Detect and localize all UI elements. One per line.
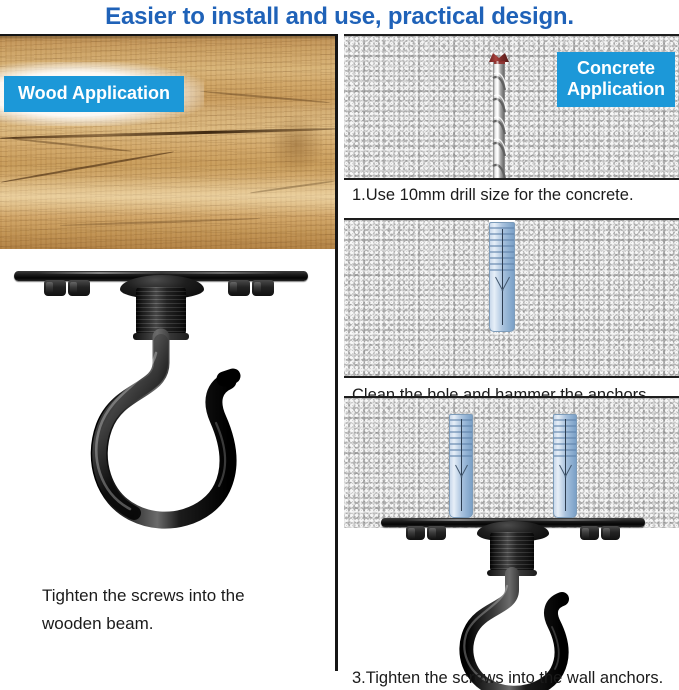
anchor-body (449, 414, 473, 518)
wood-highlight-band (0, 176, 335, 216)
wall-anchor (551, 414, 581, 518)
step-3-caption: 3.Tighten the screws into the wall ancho… (352, 667, 663, 690)
anchor-body (489, 222, 515, 332)
wood-application-badge: Wood Application (4, 76, 184, 112)
wood-caption-line-2: wooden beam. (42, 610, 154, 638)
step-2-illustration (344, 218, 679, 378)
concrete-texture-fine (344, 398, 679, 528)
wood-application-panel: Wood Application (0, 34, 338, 671)
masonry-drill-bit-icon (482, 44, 516, 180)
black-hook (0, 241, 335, 541)
anchor-body (553, 414, 577, 518)
concrete-application-panel: 1.Use 10mm drill size for the concrete. … (344, 34, 679, 671)
wood-caption-line-1: Tighten the screws into the (42, 582, 245, 610)
wooden-beam-image: Wood Application (0, 36, 335, 249)
wood-knot (267, 114, 325, 174)
page-title: Easier to install and use, practical des… (0, 0, 679, 33)
wall-anchor (485, 218, 519, 334)
step-1-caption: 1.Use 10mm drill size for the concrete. (352, 184, 634, 207)
concrete-badge-line-2: Application (567, 79, 665, 99)
wood-application-badge-glow: Wood Application (0, 62, 204, 126)
anchor-expansion-slit (461, 419, 462, 511)
product-instruction-image: Easier to install and use, practical des… (0, 0, 679, 671)
step-3-illustration (344, 396, 679, 528)
wall-anchor (447, 414, 477, 518)
anchor-expansion-slit (565, 419, 566, 511)
concrete-application-badge-wrap: Concrete Application (557, 52, 675, 107)
wood-crack (200, 90, 330, 103)
concrete-hook-assembly (344, 512, 679, 672)
concrete-application-badge: Concrete Application (557, 52, 675, 107)
concrete-badge-line-1: Concrete (577, 58, 655, 78)
black-hook (344, 512, 679, 672)
wood-crack (12, 138, 132, 153)
anchor-expansion-slit (502, 229, 503, 325)
wood-crack (60, 218, 260, 227)
wood-hook-assembly (0, 241, 335, 541)
